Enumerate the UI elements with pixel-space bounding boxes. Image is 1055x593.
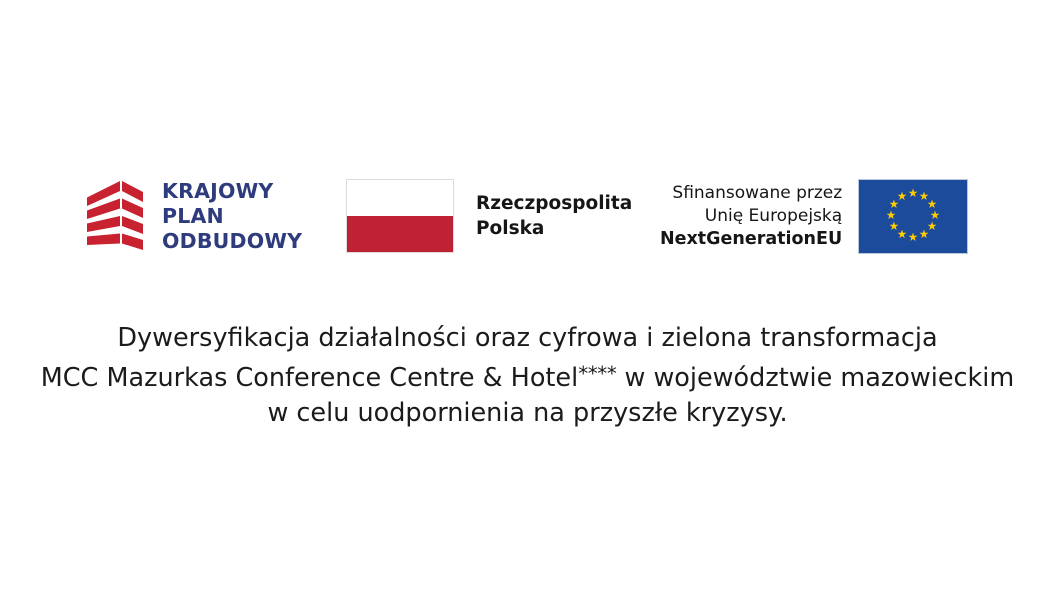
rzeczpospolita-polska-logo: Rzeczpospolita Polska [346, 170, 632, 262]
eu-line-2: Unię Europejską [705, 205, 842, 228]
poland-line-2: Polska [476, 216, 632, 241]
funding-logos-band: KRAJOWY PLAN ODBUDOWY Rzeczpospolita Pol… [0, 170, 1055, 262]
project-title-line-2-tail: w województwie mazowieckim [616, 363, 1014, 393]
poland-flag-white-stripe [347, 180, 453, 216]
poland-wordmark: Rzeczpospolita Polska [476, 191, 632, 241]
poland-line-1: Rzeczpospolita [476, 191, 632, 216]
eu-line-1: Sfinansowane przez [672, 182, 842, 205]
european-union-flag-icon [858, 179, 968, 254]
project-title-line-2-main: MCC Mazurkas Conference Centre & Hotel [41, 363, 578, 393]
project-title-line-2: MCC Mazurkas Conference Centre & Hotel**… [0, 356, 1055, 396]
kpo-line-1: KRAJOWY [162, 179, 302, 204]
poland-flag-icon [346, 179, 454, 253]
hotel-star-rating: **** [578, 362, 616, 385]
project-title-line-3: w celu uodpornienia na przyszłe kryzysy. [0, 396, 1055, 431]
project-title-line-1: Dywersyfikacja działalności oraz cyfrowa… [0, 321, 1055, 356]
eu-nextgeneration-label: NextGenerationEU [660, 228, 842, 251]
kpo-line-2: PLAN [162, 204, 302, 229]
eu-funding-statement: Sfinansowane przez Unię Europejską NextG… [660, 182, 842, 251]
building-mark-icon [84, 177, 146, 255]
project-title-block: Dywersyfikacja działalności oraz cyfrowa… [0, 321, 1055, 431]
kpo-line-3: ODBUDOWY [162, 229, 302, 254]
krajowy-plan-odbudowy-wordmark: KRAJOWY PLAN ODBUDOWY [162, 179, 302, 254]
krajowy-plan-odbudowy-logo: KRAJOWY PLAN ODBUDOWY [84, 170, 314, 262]
european-union-funding-logo: Sfinansowane przez Unię Europejską NextG… [660, 170, 968, 262]
poland-flag-red-stripe [347, 216, 453, 252]
